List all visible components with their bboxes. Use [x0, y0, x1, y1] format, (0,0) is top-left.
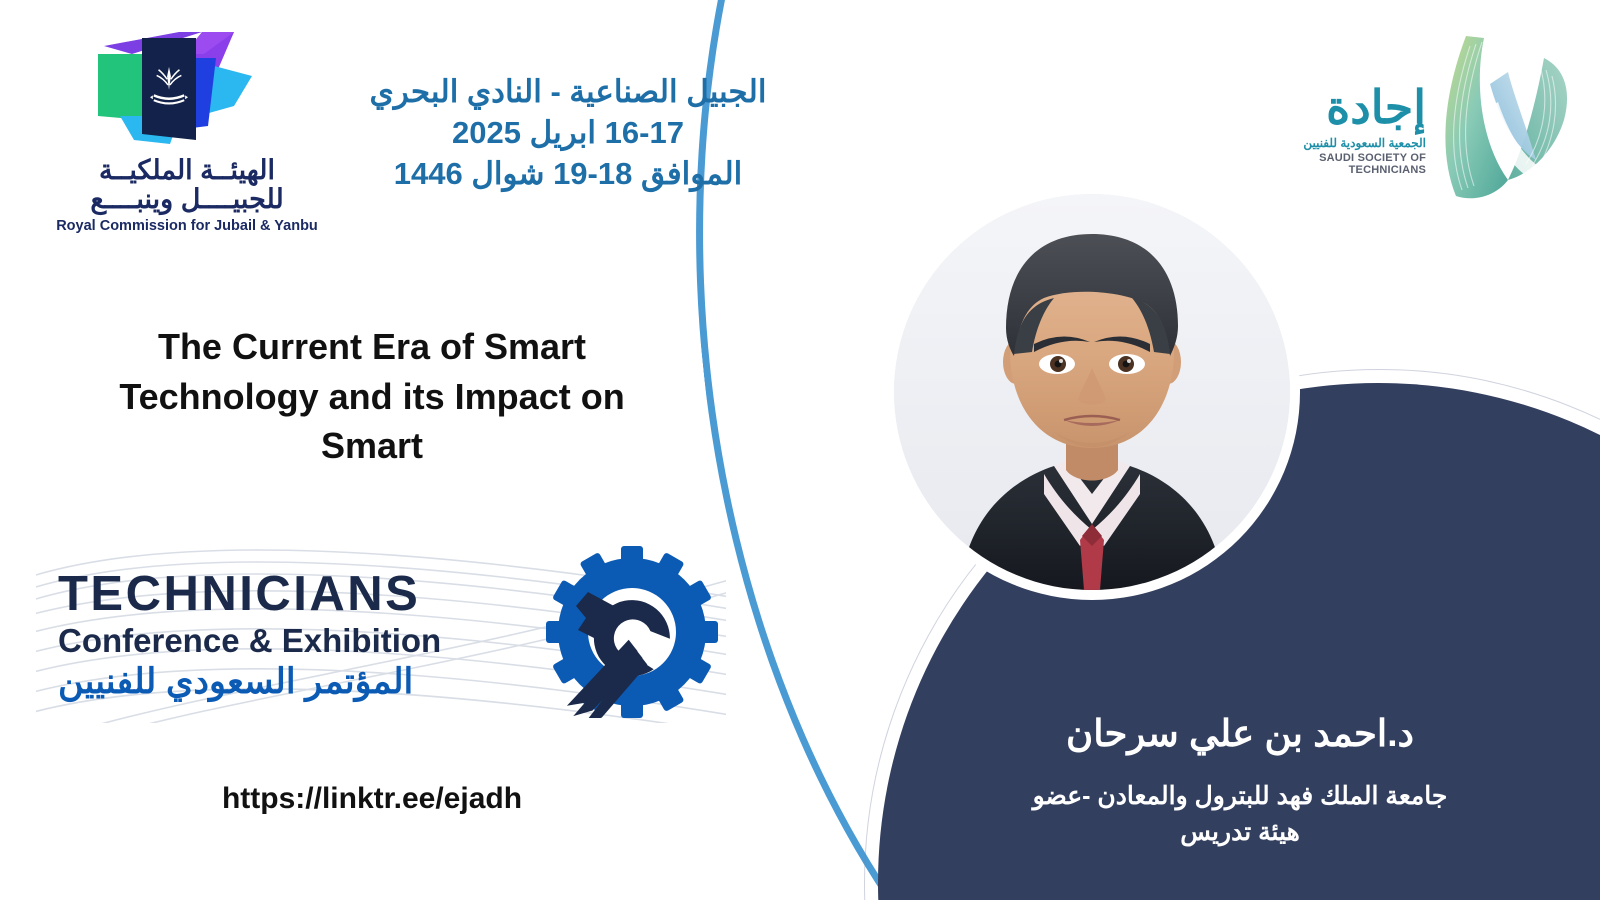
royal-commission-emblem-icon	[84, 24, 274, 154]
conference-logo-subtitle: Conference & Exhibition	[58, 622, 441, 660]
gear-wrench-icon	[546, 546, 718, 718]
society-english-name: SAUDI SOCIETY OF TECHNICIANS	[1276, 152, 1426, 176]
event-hijri-date: الموافق 18-19 شوال 1446	[318, 154, 818, 195]
talk-title-line1: The Current Era of Smart	[62, 322, 682, 372]
speaker-portrait	[894, 194, 1290, 590]
saudi-society-of-technicians-logo: إجادة الجمعية السعودية للفنيين SAUDI SOC…	[1268, 24, 1588, 209]
event-venue: الجبيل الصناعية - النادي البحري	[318, 72, 818, 113]
registration-url[interactable]: https://linktr.ee/ejadh	[62, 782, 682, 816]
royal-commission-arabic-line2: للجبيــــل وينبــــع	[42, 184, 332, 215]
conference-speaker-poster: الهيئــة الملكيــة للجبيــــل وينبــــع …	[0, 0, 1600, 900]
society-arabic-subtitle: الجمعية السعودية للفنيين	[1276, 136, 1426, 150]
ejadah-wave-icon	[1404, 24, 1584, 209]
talk-title-line3: Smart	[62, 421, 682, 471]
event-gregorian-date: 16-17 ابريل 2025	[318, 113, 818, 154]
royal-commission-logo: الهيئــة الملكيــة للجبيــــل وينبــــع …	[42, 22, 332, 247]
event-meta-block: الجبيل الصناعية - النادي البحري 16-17 اب…	[318, 72, 818, 195]
speaker-affiliation: جامعة الملك فهد للبترول والمعادن -عضو هي…	[930, 778, 1550, 851]
speaker-name: د.احمد بن علي سرحان	[930, 712, 1550, 755]
society-arabic-name: إجادة	[1276, 84, 1426, 130]
talk-title-line2: Technology and its Impact on	[62, 372, 682, 422]
conference-logo-word: TECHNICIANS	[58, 566, 420, 622]
technicians-conference-logo: TECHNICIANS Conference & Exhibition المؤ…	[36, 538, 726, 723]
royal-commission-english-name: Royal Commission for Jubail & Yanbu	[42, 218, 332, 234]
talk-title: The Current Era of Smart Technology and …	[62, 322, 682, 471]
conference-logo-arabic: المؤتمر السعودي للفنيين	[58, 662, 413, 702]
speaker-affiliation-line2: هيئة تدريس	[930, 814, 1550, 850]
speaker-affiliation-line1: جامعة الملك فهد للبترول والمعادن -عضو	[930, 778, 1550, 814]
royal-commission-arabic-line1: الهيئــة الملكيــة	[42, 155, 332, 186]
